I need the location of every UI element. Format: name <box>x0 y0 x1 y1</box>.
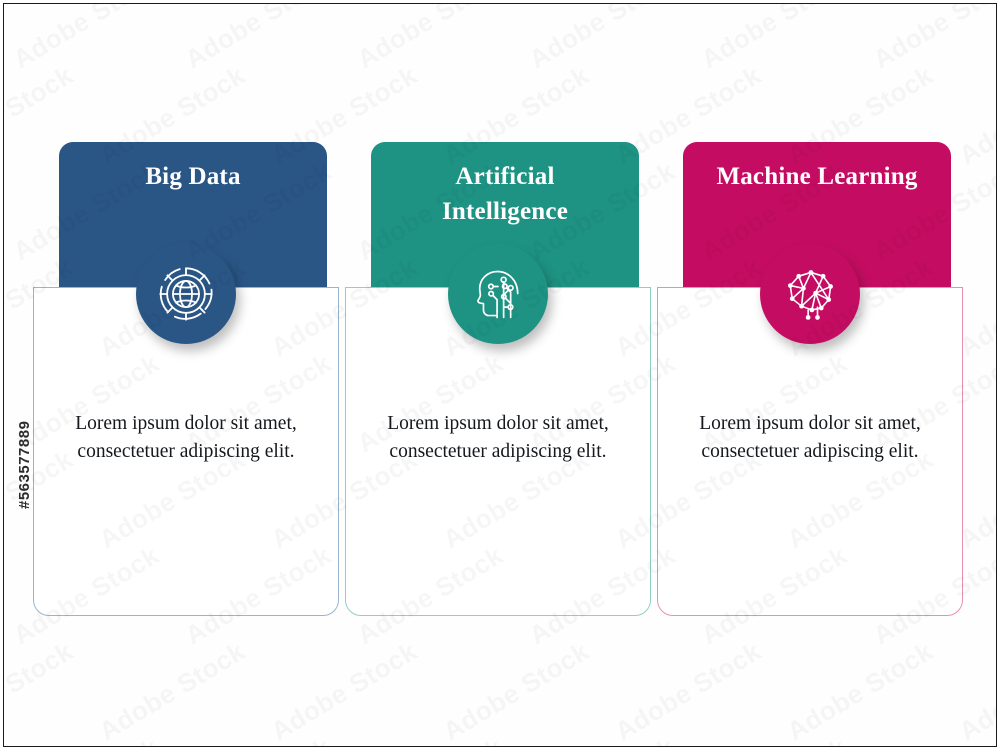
card-icon-badge <box>136 244 236 344</box>
globe-icon <box>155 263 217 325</box>
infographic-card: Big Data Lorem ipsum dolor sit amet, con… <box>33 142 339 616</box>
card-description: Lorem ipsum dolor sit amet, consectetuer… <box>686 410 934 615</box>
infographic-card: Machine Learning Lorem ipsum dolor sit a… <box>657 142 963 616</box>
card-icon-badge <box>760 244 860 344</box>
card-icon-badge <box>448 244 548 344</box>
stock-id-label: #563577889 <box>16 421 33 509</box>
card-description: Lorem ipsum dolor sit amet, consectetuer… <box>62 410 310 615</box>
ai-head-circuit-icon <box>468 264 528 324</box>
brain-network-icon <box>780 264 840 324</box>
infographic-card-row: Big Data Lorem ipsum dolor sit amet, con… <box>4 4 997 747</box>
infographic-card: Artificial Intelligence Lorem ipsum dolo… <box>345 142 651 616</box>
card-description: Lorem ipsum dolor sit amet, consectetuer… <box>374 410 622 615</box>
stock-image-frame: Adobe StockAdobe StockAdobe StockAdobe S… <box>3 3 997 747</box>
